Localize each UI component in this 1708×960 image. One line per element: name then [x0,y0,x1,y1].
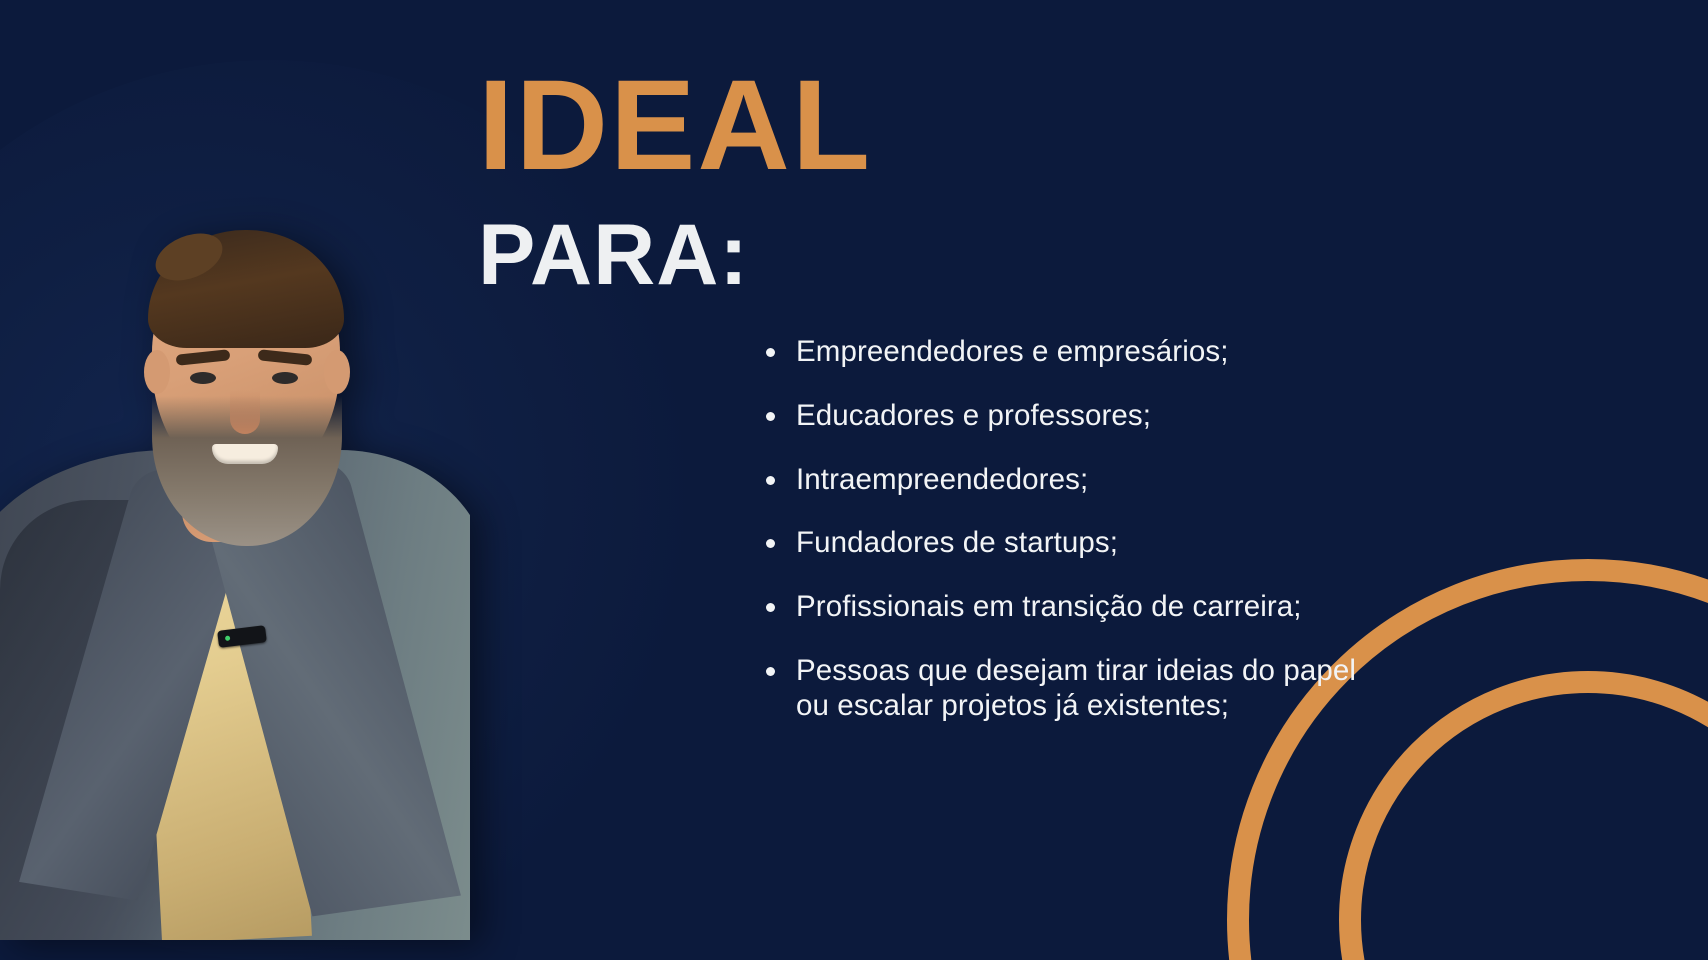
list-item: Educadores e professores; [758,399,1358,434]
arc-inner-icon [1350,682,1708,960]
list-item: Empreendedores e empresários; [758,335,1358,370]
mouth-shape [212,444,278,464]
list-item: Pessoas que desejam tirar ideias do pape… [758,654,1358,724]
speaker-photo [0,200,470,940]
list-item: Profissionais em transição de carreira; [758,590,1358,625]
title-line-ideal: IDEAL [478,62,872,190]
speaker-photo-figure [0,200,470,940]
ear-left-shape [144,350,170,394]
ear-right-shape [324,350,350,394]
list-item: Fundadores de startups; [758,526,1358,561]
hair-shape [148,230,344,348]
eye-right-shape [272,372,298,384]
title-block: IDEAL PARA: [478,62,872,298]
audience-bullet-list: Empreendedores e empresários; Educadores… [758,335,1358,724]
slide-ideal-para: IDEAL PARA: Empreendedores e empresários… [0,0,1708,960]
nose-shape [230,390,260,434]
eye-left-shape [190,372,216,384]
list-item: Intraempreendedores; [758,463,1358,498]
title-line-para: PARA: [478,212,872,298]
